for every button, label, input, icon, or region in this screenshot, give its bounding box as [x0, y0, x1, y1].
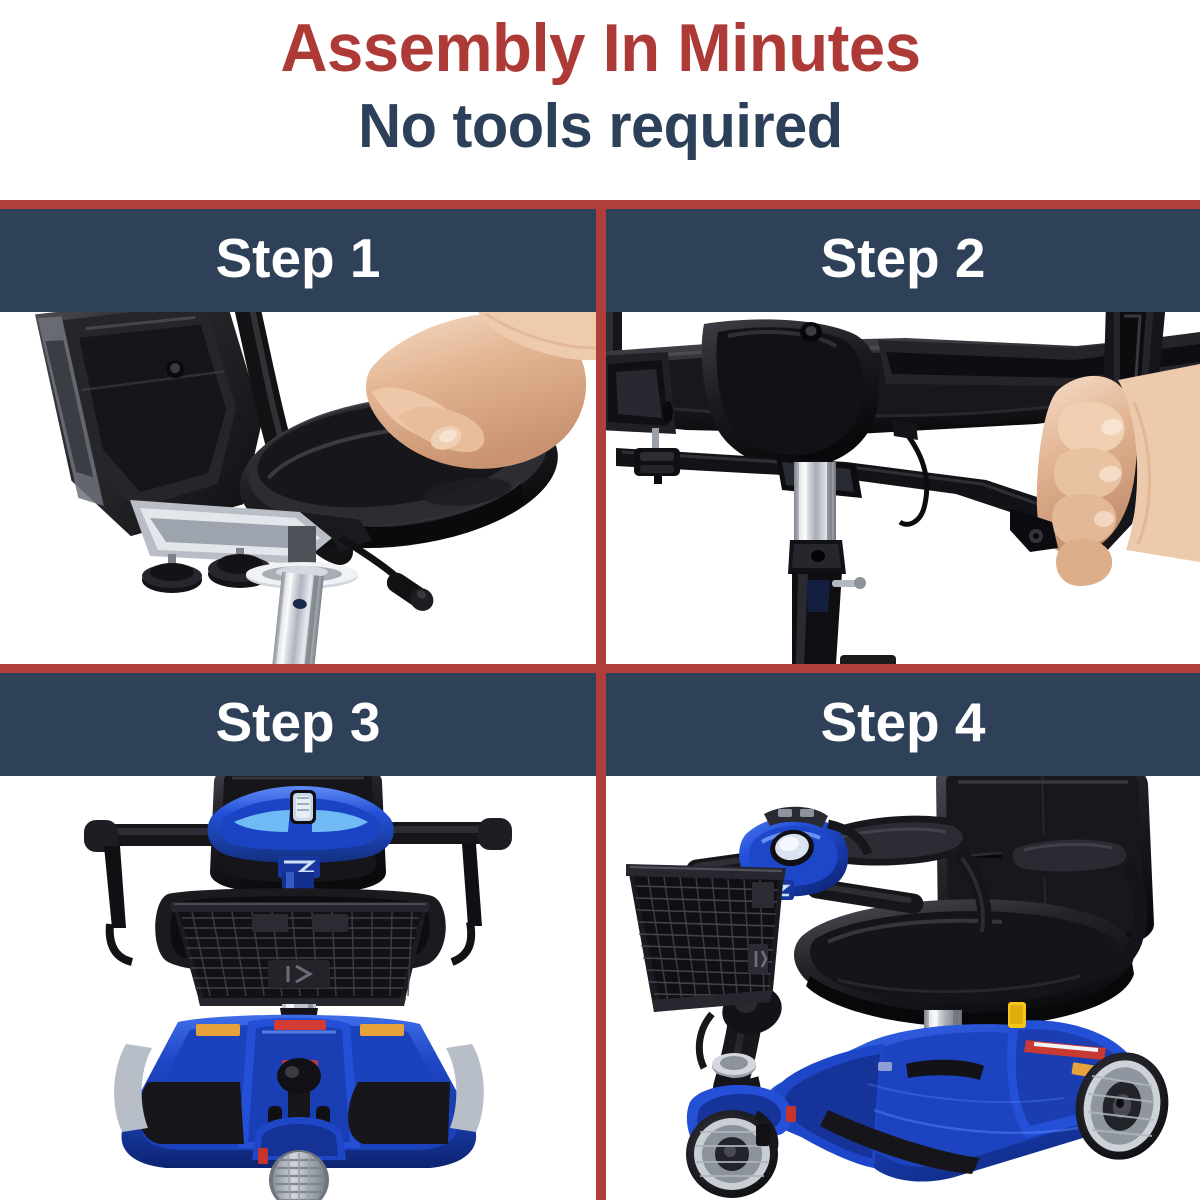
step-3-label: Step 3 [215, 695, 380, 750]
header: Assembly In Minutes No tools required [0, 0, 1200, 200]
step-1-label: Step 1 [215, 231, 380, 286]
step-2-label: Step 2 [820, 231, 985, 286]
page-subtitle: No tools required [358, 82, 843, 158]
step-4-label: Step 4 [820, 695, 985, 750]
step-1-banner: Step 1 [0, 209, 596, 312]
front-basket [626, 864, 786, 1012]
step-4-banner: Step 4 [606, 673, 1200, 776]
page-title: Assembly In Minutes [280, 0, 920, 82]
front-basket [170, 902, 430, 1006]
step-4-photo [606, 776, 1200, 1200]
step-1-photo [0, 312, 596, 664]
scooter-front-icon [0, 776, 596, 1200]
armrest-install-icon [606, 312, 1200, 664]
divider-vertical [596, 200, 606, 1200]
step-3-photo [0, 776, 596, 1200]
step-3-banner: Step 3 [0, 673, 596, 776]
step-2-photo [606, 312, 1200, 664]
seat-install-icon [0, 312, 596, 664]
step-2-banner: Step 2 [606, 209, 1200, 312]
scooter-angle-icon [606, 776, 1200, 1200]
infographic-page: Assembly In Minutes No tools required St… [0, 0, 1200, 1200]
